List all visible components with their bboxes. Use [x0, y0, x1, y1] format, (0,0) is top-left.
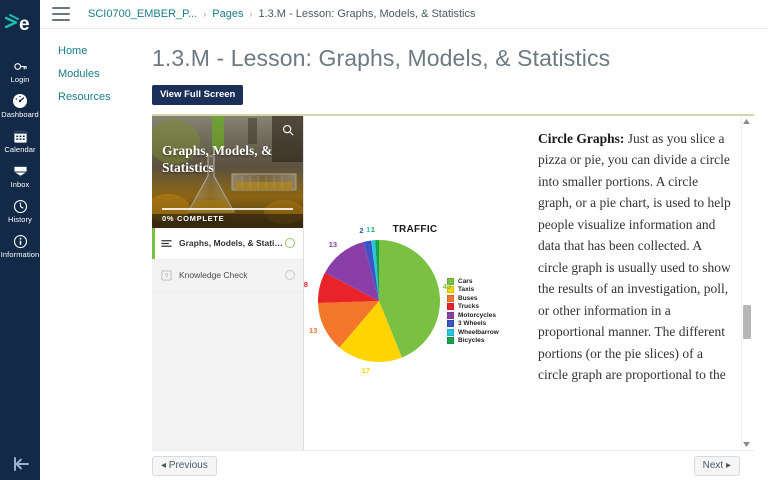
pie-label-wheelbarrow: 1: [366, 225, 370, 234]
previous-button[interactable]: ◂ Previous: [152, 456, 217, 476]
legend-item-motorcycles: Motorcycles: [447, 312, 499, 319]
sidebar-item-label: Login: [11, 75, 30, 84]
legend-label: Buses: [458, 295, 478, 302]
lesson-body-text: Circle Graphs: Just as you slice a pizza…: [538, 128, 732, 386]
pie-label-bicycles: 1: [371, 225, 375, 234]
course-nav-item-home[interactable]: Home: [58, 45, 152, 57]
status-badge: [285, 238, 295, 248]
traffic-pie-chart: TRAFFIC 431713813211 CarsTaxisBusesTruck…: [315, 224, 515, 365]
lesson-item-label: Graphs, Models, & Statistics: [179, 238, 285, 248]
pie-label-motorcycles: 13: [329, 240, 337, 249]
sidebar-item-information[interactable]: Information: [0, 229, 40, 264]
speedometer-icon: [12, 93, 28, 109]
sidebar-item-inbox[interactable]: Inbox: [0, 159, 40, 194]
legend-item-wheelbarrow: Wheelbarrow: [447, 329, 499, 336]
chart-legend: CarsTaxisBusesTrucksMotorcycles3 WheelsW…: [447, 256, 499, 346]
canvas-page: e Login: [0, 0, 768, 480]
pie-chart-graphic: 431713813211: [315, 237, 443, 365]
legend-swatch: [447, 337, 454, 344]
breadcrumb-pages[interactable]: Pages: [212, 8, 243, 20]
legend-swatch: [447, 312, 454, 319]
lesson-hero: Graphs, Models, & Statistics 0% COMPLETE: [152, 116, 303, 228]
sidebar-item-calendar[interactable]: Calendar: [0, 124, 40, 159]
scroll-up-icon[interactable]: [743, 116, 750, 127]
next-button[interactable]: Next ▸: [694, 456, 740, 476]
lesson-content-pane: TRAFFIC 431713813211 CarsTaxisBusesTruck…: [304, 116, 754, 450]
breadcrumb-separator: ›: [203, 9, 206, 19]
progress-bar: [162, 208, 293, 210]
legend-item-trucks: Trucks: [447, 303, 499, 310]
progress-label: 0% COMPLETE: [162, 214, 224, 223]
legend-label: Bicycles: [458, 337, 484, 344]
legend-item-cars: Cars: [447, 278, 499, 285]
legend-label: Taxis: [458, 286, 474, 293]
collapse-left-icon[interactable]: [0, 456, 40, 472]
scroll-down-icon[interactable]: [743, 439, 750, 450]
chart-column: TRAFFIC 431713813211 CarsTaxisBusesTruck…: [304, 116, 526, 450]
breadcrumb: SCI0700_EMBER_P... › Pages › 1.3.M - Les…: [88, 8, 475, 20]
calendar-icon: [12, 128, 28, 144]
sidebar-item-history[interactable]: History: [0, 194, 40, 229]
legend-label: 3 Wheels: [458, 320, 486, 327]
pie-label-taxis: 17: [362, 366, 370, 375]
lesson-scrollbar[interactable]: [741, 116, 751, 450]
scrollbar-thumb[interactable]: [743, 305, 751, 339]
pie-label-trucks: 8: [304, 280, 308, 289]
question-box-icon: ?: [160, 269, 173, 282]
lesson-sidebar: Graphs, Models, & Statistics 0% COMPLETE: [152, 116, 304, 450]
sidebar-item-label: Inbox: [11, 180, 30, 189]
legend-swatch: [447, 320, 454, 327]
lesson-item-graphs-models-statistics[interactable]: Graphs, Models, & Statistics: [152, 228, 303, 260]
legend-label: Cars: [458, 278, 472, 285]
legend-label: Wheelbarrow: [458, 329, 499, 336]
scrollbar-track[interactable]: [742, 127, 752, 439]
main-region: SCI0700_EMBER_P... › Pages › 1.3.M - Les…: [40, 0, 768, 480]
pagination-footer: ◂ Previous Next ▸: [152, 450, 754, 480]
lesson-item-label: Knowledge Check: [179, 270, 285, 280]
legend-swatch: [447, 303, 454, 310]
lesson-text-column: Circle Graphs: Just as you slice a pizza…: [526, 116, 754, 450]
legend-item-bicycles: Bicycles: [447, 337, 499, 344]
page-content: 1.3.M - Lesson: Graphs, Models, & Statis…: [152, 29, 768, 480]
lesson-text-body: Just as you slice a pizza or pie, you ca…: [538, 131, 731, 383]
legend-item-3-wheels: 3 Wheels: [447, 320, 499, 327]
view-full-screen-button[interactable]: View Full Screen: [152, 85, 243, 105]
breadcrumb-separator: ›: [249, 9, 252, 19]
sidebar-item-label: History: [8, 215, 32, 224]
svg-text:e: e: [19, 14, 30, 33]
legend-swatch: [447, 329, 454, 336]
sidebar-item-label: Calendar: [4, 145, 35, 154]
global-nav-items: Login Dashboard: [0, 54, 40, 264]
search-icon[interactable]: [281, 123, 295, 137]
sidebar-item-dashboard[interactable]: Dashboard: [0, 89, 40, 124]
list-icon: [160, 237, 173, 250]
breadcrumb-bar: SCI0700_EMBER_P... › Pages › 1.3.M - Les…: [40, 0, 768, 29]
sidebar-item-label: Information: [1, 250, 40, 259]
key-icon: [12, 58, 28, 74]
legend-label: Motorcycles: [458, 312, 496, 319]
chart-title: TRAFFIC: [315, 224, 515, 235]
info-icon: [12, 233, 28, 249]
sidebar-item-label: Dashboard: [1, 110, 39, 119]
hamburger-icon[interactable]: [52, 7, 70, 21]
pie-label-cars: 43: [443, 282, 451, 291]
lesson-hero-title: Graphs, Models, & Statistics: [162, 142, 285, 176]
lesson-text-lead: Circle Graphs:: [538, 131, 624, 146]
clock-icon: [12, 198, 28, 214]
envelope-icon: [12, 163, 28, 179]
lesson-item-list: Graphs, Models, & Statistics ?: [152, 228, 303, 292]
pie-label-buses: 13: [309, 326, 317, 335]
course-nav-item-modules[interactable]: Modules: [58, 68, 152, 80]
course-nav-item-resources[interactable]: Resources: [58, 91, 152, 103]
body-area: Home Modules Resources 1.3.M - Lesson: G…: [40, 29, 768, 480]
breadcrumb-course[interactable]: SCI0700_EMBER_P...: [88, 8, 197, 20]
legend-label: Trucks: [458, 303, 479, 310]
legend-item-taxis: Taxis: [447, 286, 499, 293]
lesson-item-knowledge-check[interactable]: ? Knowledge Check: [152, 260, 303, 292]
breadcrumb-current-page: 1.3.M - Lesson: Graphs, Models, & Statis…: [258, 8, 475, 20]
legend-item-buses: Buses: [447, 295, 499, 302]
svg-text:?: ?: [165, 272, 169, 279]
lesson-embed-frame: Graphs, Models, & Statistics 0% COMPLETE: [152, 114, 754, 450]
pie-label-3-wheels: 2: [359, 226, 363, 235]
status-badge: [285, 270, 295, 280]
course-navigation: Home Modules Resources: [40, 29, 152, 480]
legend-swatch: [447, 295, 454, 302]
sidebar-item-login[interactable]: Login: [0, 54, 40, 89]
ember-logo[interactable]: e: [0, 6, 40, 40]
page-title: 1.3.M - Lesson: Graphs, Models, & Statis…: [152, 45, 754, 73]
global-navigation: e Login: [0, 0, 40, 480]
